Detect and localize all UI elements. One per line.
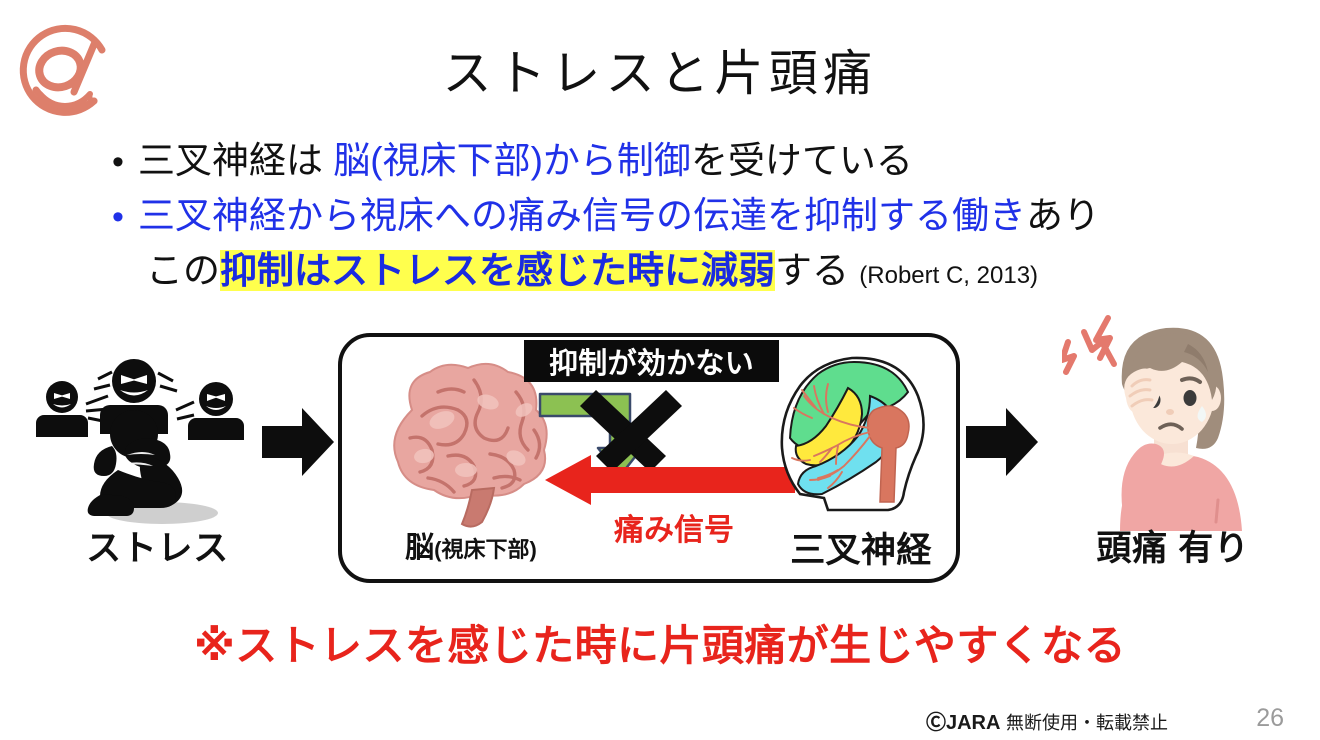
continuation-suffix: する	[775, 250, 849, 291]
bullet-list: •三叉神経は 脳(視床下部)から制御を受けている •三叉神経から視床への痛み信号…	[112, 134, 1292, 303]
stressed-person-bullied-icon	[30, 352, 285, 532]
woman-with-headache-icon	[1062, 306, 1277, 531]
conclusion-text: ※ストレスを感じた時に片頭痛が生じやすくなる	[0, 612, 1320, 673]
page-number: 26	[1256, 704, 1284, 733]
brain-label-sub: (視床下部)	[434, 537, 537, 562]
continuation-highlight: 抑制はストレスを感じた時に減弱	[220, 250, 775, 291]
pain-signal-label: 痛み信号	[584, 505, 764, 549]
bullet-1-seg-blue: 脳(視床下部)から制御	[333, 140, 691, 181]
trigeminal-nerve-head-icon	[766, 352, 946, 532]
copyright-org: JARA	[946, 712, 1000, 734]
copyright-jp-notice: 無断使用・転載禁止	[1006, 713, 1168, 733]
bullet-marker-1: •	[112, 135, 138, 189]
red-arrow-left-icon	[545, 455, 795, 505]
bullet-marker-2: •	[112, 190, 138, 244]
stress-label: ストレス	[30, 520, 285, 571]
arrow-right-icon	[262, 404, 334, 480]
copyright-notice: ⒸJARA 無断使用・転載禁止	[926, 706, 1168, 735]
page-title: ストレスと片頭痛	[0, 34, 1320, 105]
arrow-right-icon-2	[966, 404, 1038, 480]
bullet-2-seg-black: あり	[1026, 195, 1100, 236]
bullet-item-2: •三叉神経から視床への痛み信号の伝達を抑制する働きあり	[112, 189, 1292, 244]
trigeminal-label: 三叉神経	[766, 522, 956, 573]
bullet-1-seg-black-2: を受けている	[691, 140, 913, 181]
bullet-continuation-line: この抑制はストレスを感じた時に減弱する (Robert C, 2013)	[112, 244, 1292, 303]
bullet-item-1: •三叉神経は 脳(視床下部)から制御を受けている	[112, 134, 1292, 189]
copyright-mark: Ⓒ	[926, 712, 946, 734]
brain-label-main: 脳	[405, 532, 434, 564]
bullet-1-seg-black-1: 三叉神経は	[138, 140, 333, 181]
brain-label: 脳(視床下部)	[356, 524, 586, 566]
slide-canvas: ストレスと片頭痛 •三叉神経は 脳(視床下部)から制御を受けている •三叉神経か…	[0, 0, 1320, 740]
continuation-prefix: この	[146, 250, 220, 291]
bullet-2-seg-blue: 三叉神経から視床への痛み信号の伝達を抑制する働き	[138, 195, 1026, 236]
inhibition-banner-label: 抑制が効かない	[549, 340, 754, 382]
inhibition-banner: 抑制が効かない	[524, 340, 779, 382]
citation: (Robert C, 2013)	[859, 262, 1038, 289]
headache-label: 頭痛 有り	[1058, 520, 1288, 571]
